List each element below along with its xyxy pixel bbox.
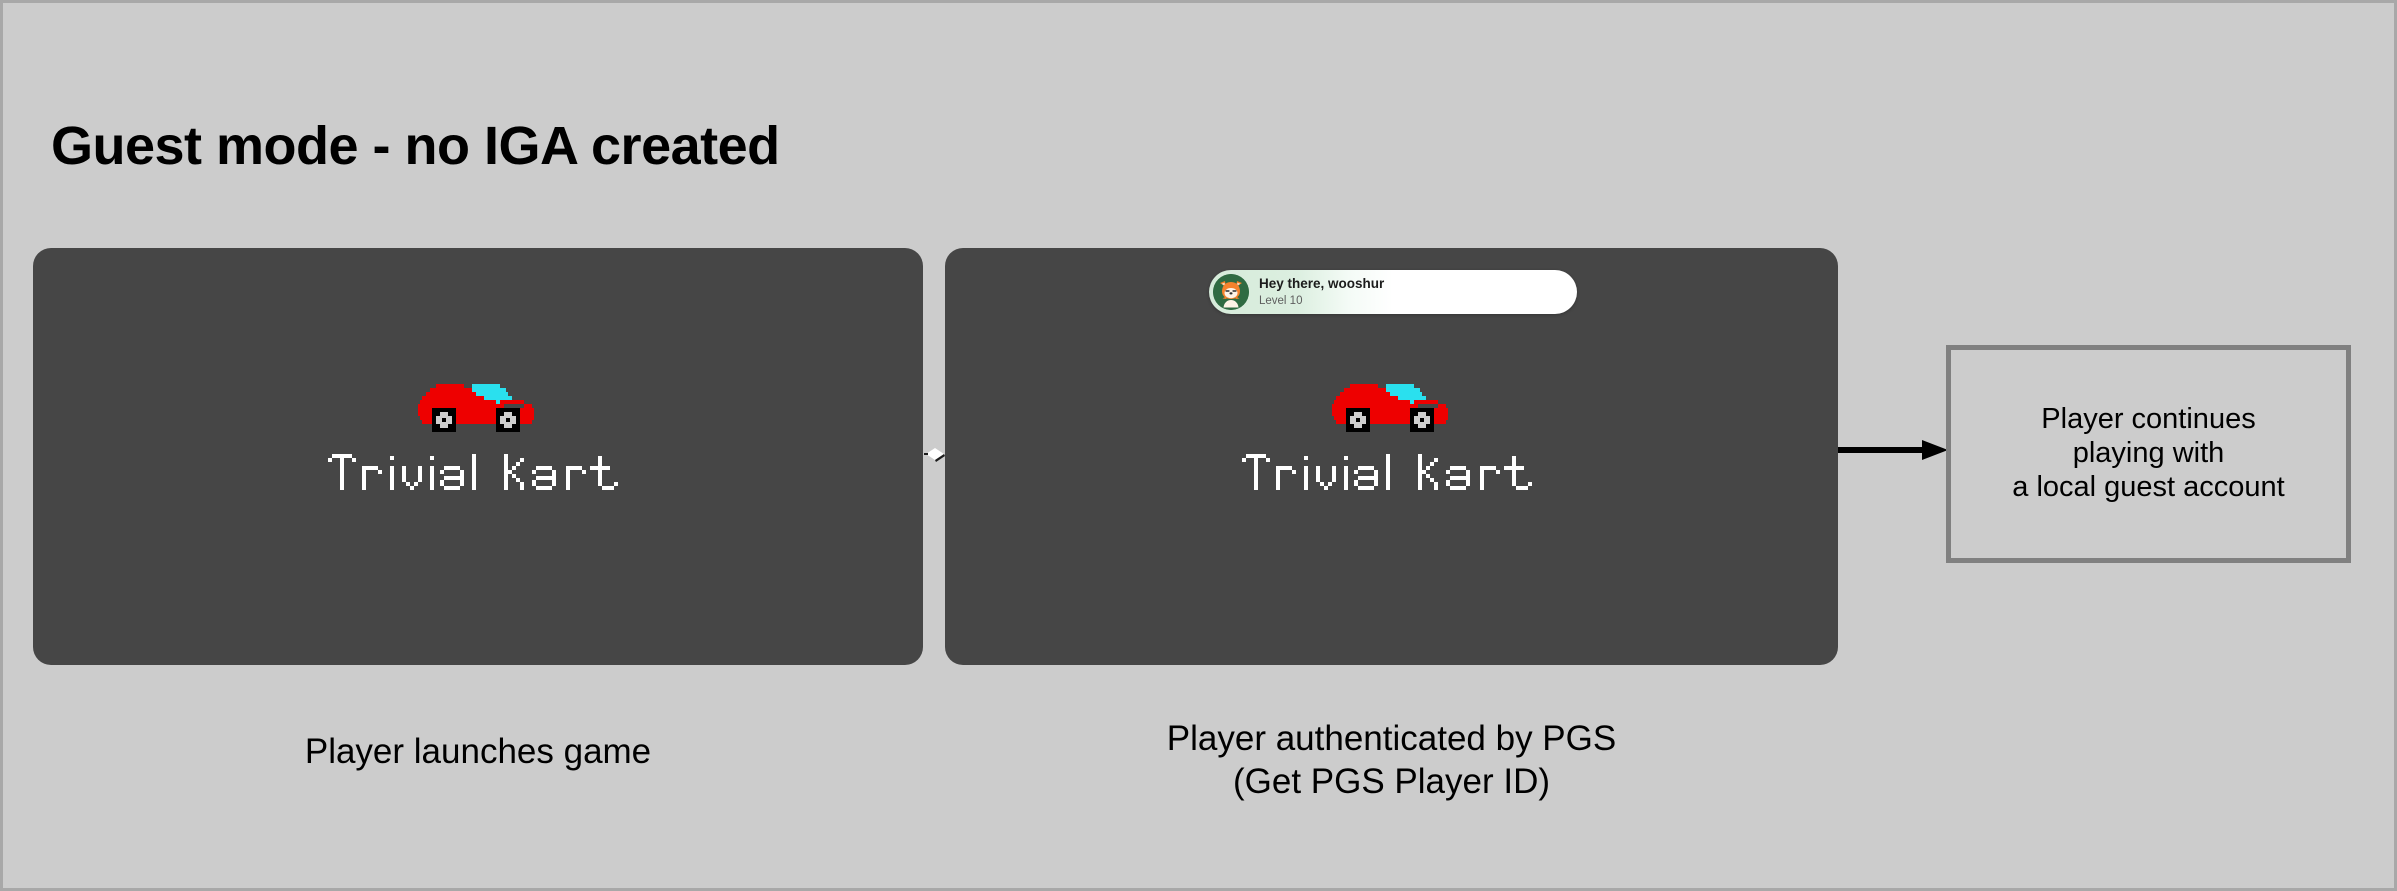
fox-avatar-icon bbox=[1213, 274, 1249, 310]
result-line-3: a local guest account bbox=[2012, 471, 2284, 505]
game-logo-group bbox=[945, 376, 1838, 500]
result-box: Player continues playing with a local gu… bbox=[1946, 345, 2351, 563]
arrow-right-icon bbox=[1838, 435, 1950, 465]
pixel-car-icon bbox=[412, 376, 544, 432]
page-title: Guest mode - no IGA created bbox=[51, 115, 780, 177]
pgs-toast-text: Hey there, wooshur Level 10 bbox=[1259, 277, 1384, 306]
game-title-logo bbox=[328, 454, 628, 500]
pgs-greeting-label: Hey there, wooshur bbox=[1259, 277, 1384, 291]
caption-line: Player launches game bbox=[33, 731, 923, 774]
result-line-1: Player continues bbox=[2041, 403, 2255, 437]
game-title-logo bbox=[1242, 454, 1542, 500]
game-screen-launch[interactable] bbox=[33, 248, 923, 665]
caption-line: Player authenticated by PGS bbox=[945, 718, 1838, 761]
result-line-2: playing with bbox=[2073, 437, 2225, 471]
caption-screen-authenticated: Player authenticated by PGS (Get PGS Pla… bbox=[945, 718, 1838, 803]
game-logo-group bbox=[33, 376, 923, 500]
pgs-level-label: Level 10 bbox=[1259, 295, 1384, 307]
diamond-marker-icon bbox=[924, 445, 946, 465]
pixel-car-icon bbox=[1326, 376, 1458, 432]
game-screen-authenticated[interactable]: Hey there, wooshur Level 10 bbox=[945, 248, 1838, 665]
caption-line: (Get PGS Player ID) bbox=[945, 761, 1838, 804]
diagram-canvas: Guest mode - no IGA created bbox=[0, 0, 2397, 891]
caption-screen-launch: Player launches game bbox=[33, 731, 923, 774]
pgs-welcome-toast[interactable]: Hey there, wooshur Level 10 bbox=[1209, 270, 1577, 314]
